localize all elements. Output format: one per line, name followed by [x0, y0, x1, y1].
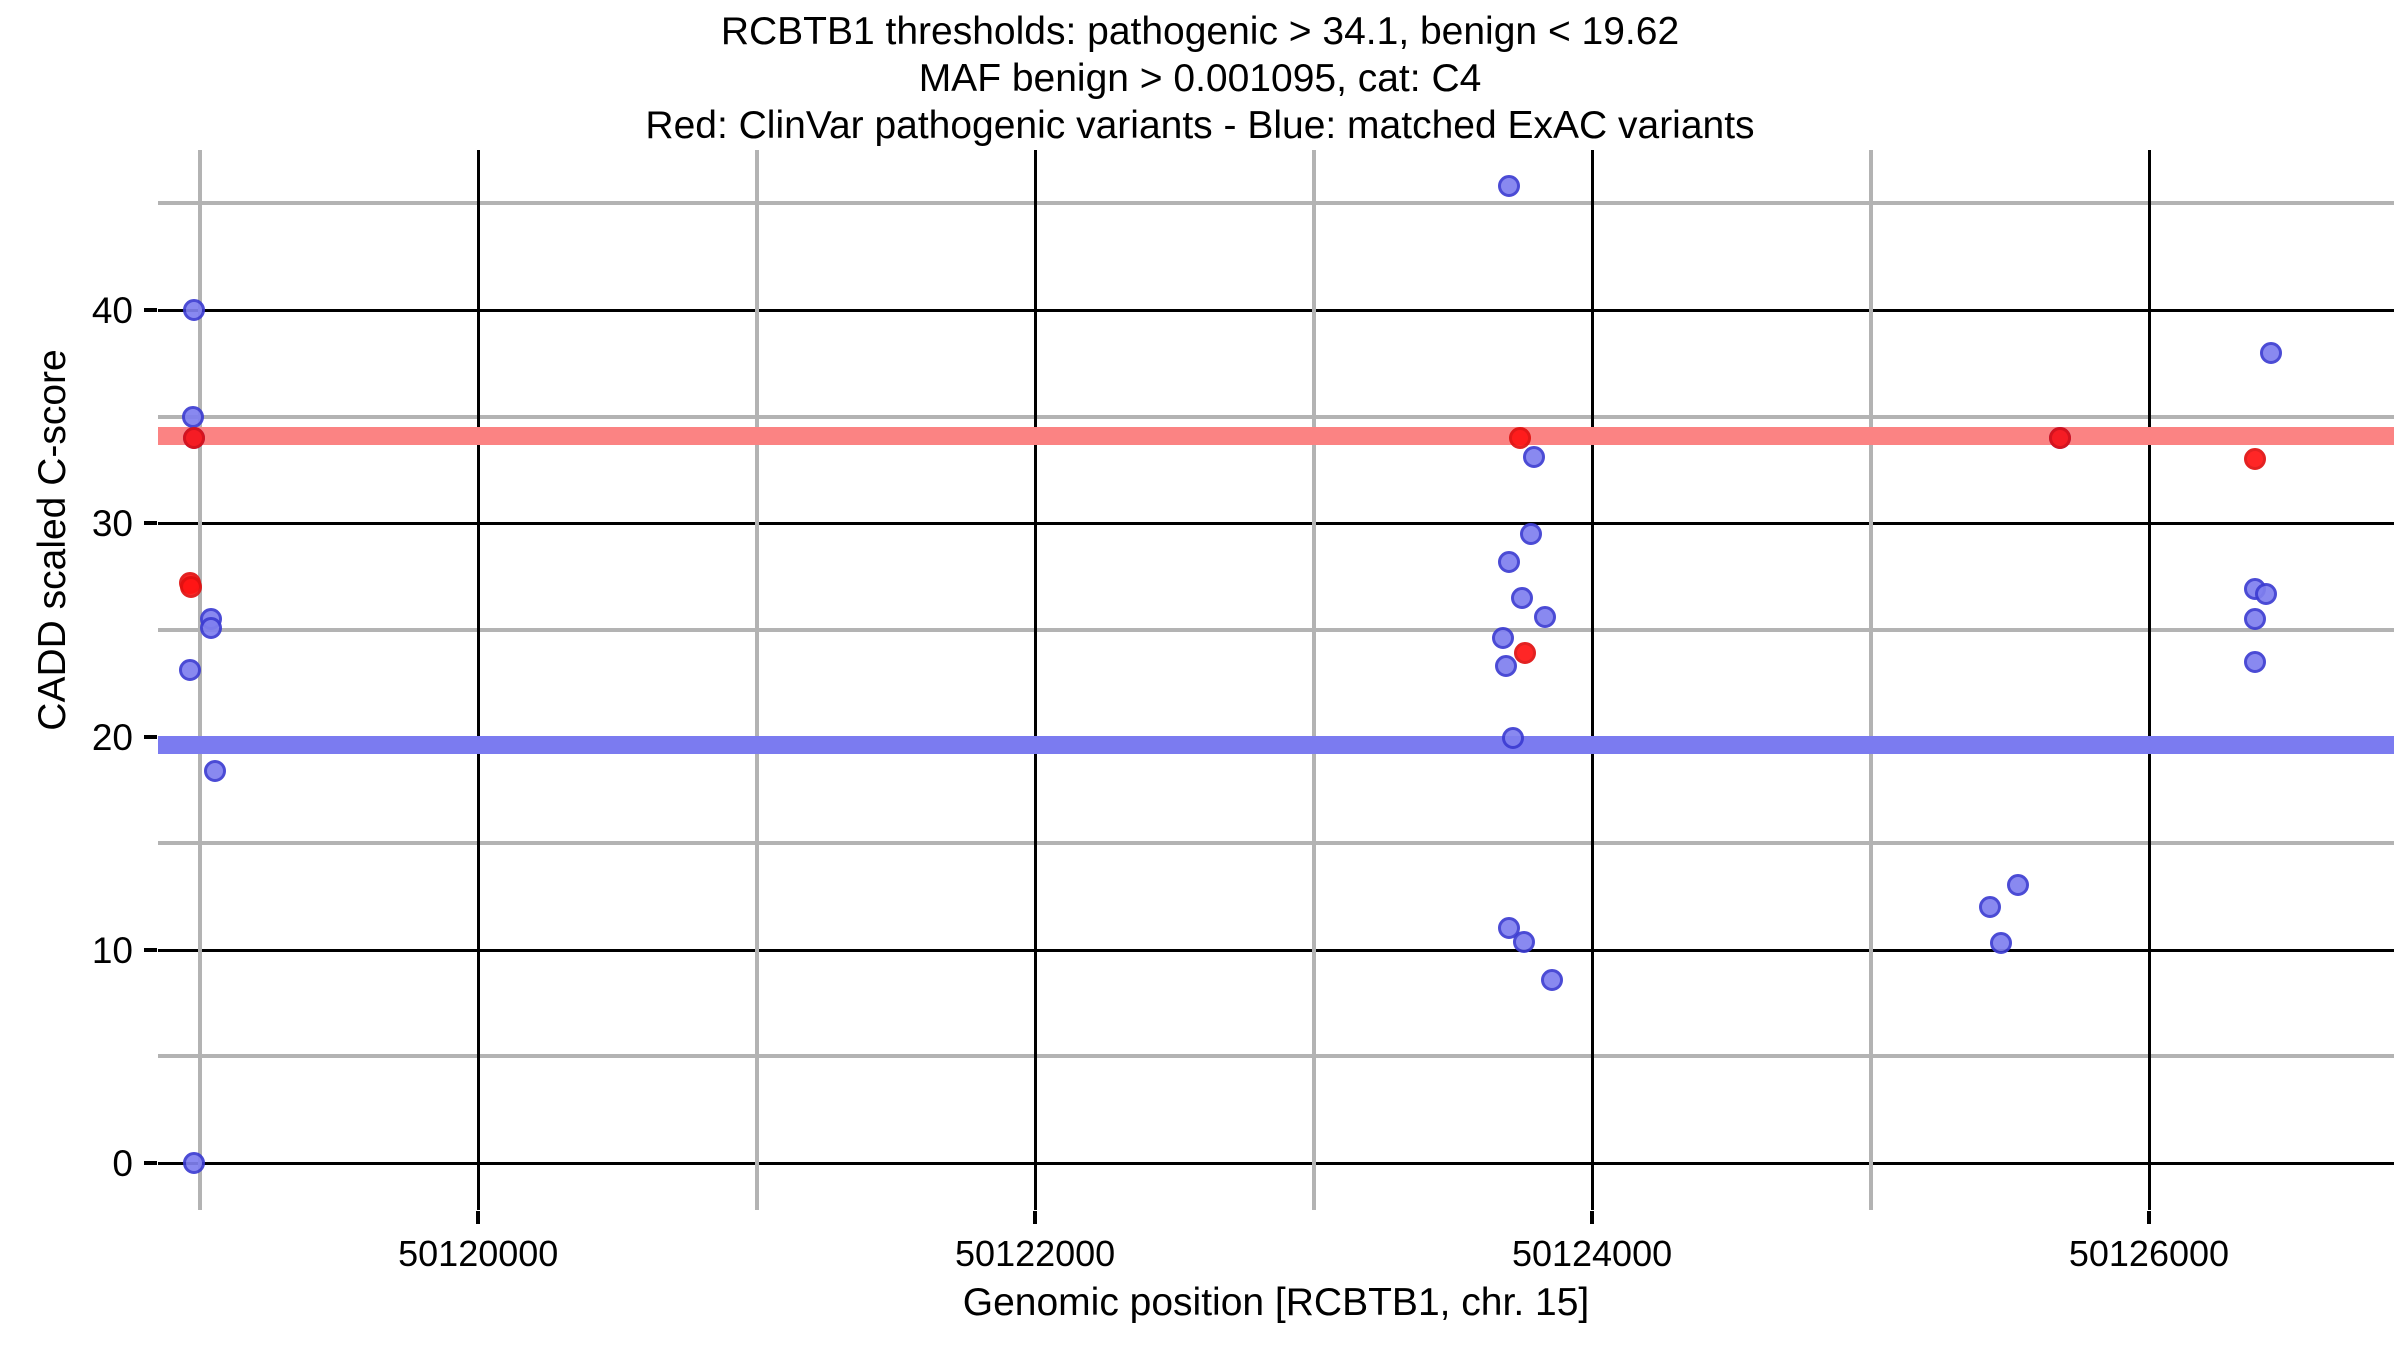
- gridline-vertical-major: [1591, 150, 1594, 1210]
- y-axis-tick-mark: [144, 1161, 157, 1165]
- x-axis-tick-label: 50124000: [1392, 1236, 1792, 1272]
- x-axis-title: Genomic position [RCBTB1, chr. 15]: [158, 1280, 2394, 1326]
- gridline-horizontal-major: [158, 1162, 2394, 1165]
- data-point-exac: [1492, 627, 1514, 649]
- plot-area: [158, 150, 2394, 1210]
- gridline-vertical-minor: [755, 150, 759, 1210]
- y-axis-tick-mark: [144, 948, 157, 952]
- data-point-pathogenic: [1514, 642, 1536, 664]
- data-point-exac: [183, 1152, 205, 1174]
- gridline-horizontal-minor: [158, 841, 2394, 845]
- x-axis-tick-label: 50126000: [1949, 1236, 2349, 1272]
- data-point-exac: [1495, 655, 1517, 677]
- data-point-exac: [2244, 651, 2266, 673]
- data-point-exac: [1513, 931, 1535, 953]
- chart-title-line-3: Red: ClinVar pathogenic variants - Blue:…: [0, 102, 2400, 149]
- data-point-exac: [182, 406, 204, 428]
- data-point-exac: [200, 617, 222, 639]
- y-axis-tick-label: 30: [0, 505, 133, 542]
- chart-title-line-2: MAF benign > 0.001095, cat: C4: [0, 55, 2400, 102]
- x-axis-tick-mark: [476, 1211, 480, 1224]
- y-axis-tick-mark: [144, 308, 157, 312]
- gridline-vertical-major: [2148, 150, 2151, 1210]
- x-axis-tick-mark: [2147, 1211, 2151, 1224]
- x-axis-tick-label: 50122000: [835, 1236, 1235, 1272]
- data-point-exac: [1534, 606, 1556, 628]
- data-point-exac: [1502, 727, 1524, 749]
- data-point-exac: [183, 299, 205, 321]
- data-point-exac: [2255, 583, 2277, 605]
- figure-canvas: RCBTB1 thresholds: pathogenic > 34.1, be…: [0, 0, 2400, 1350]
- gridline-vertical-major: [477, 150, 480, 1210]
- y-axis-tick-label: 0: [0, 1145, 133, 1182]
- x-axis-tick-mark: [1033, 1211, 1037, 1224]
- gridline-horizontal-major: [158, 949, 2394, 952]
- data-point-pathogenic: [2049, 427, 2071, 449]
- benign-threshold-band: [158, 736, 2394, 754]
- y-axis-tick-mark: [144, 735, 157, 739]
- data-point-exac: [1511, 587, 1533, 609]
- gridline-vertical-minor: [1869, 150, 1873, 1210]
- gridline-horizontal-minor: [158, 201, 2394, 205]
- chart-title: RCBTB1 thresholds: pathogenic > 34.1, be…: [0, 8, 2400, 149]
- chart-title-line-1: RCBTB1 thresholds: pathogenic > 34.1, be…: [0, 8, 2400, 55]
- data-point-pathogenic: [1509, 427, 1531, 449]
- y-axis-tick-label: 10: [0, 932, 133, 969]
- data-point-exac: [1498, 551, 1520, 573]
- x-axis-tick-label: 50120000: [278, 1236, 678, 1272]
- gridline-horizontal-major: [158, 309, 2394, 312]
- data-point-exac: [1979, 896, 2001, 918]
- gridline-horizontal-minor: [158, 628, 2394, 632]
- data-point-pathogenic: [183, 427, 205, 449]
- gridline-horizontal-minor: [158, 415, 2394, 419]
- data-point-exac: [204, 760, 226, 782]
- gridline-vertical-major: [1034, 150, 1037, 1210]
- data-point-exac: [1523, 446, 1545, 468]
- y-axis-tick-label: 40: [0, 292, 133, 329]
- data-point-exac: [1541, 969, 1563, 991]
- x-axis-tick-mark: [1590, 1211, 1594, 1224]
- y-axis-tick-mark: [144, 521, 157, 525]
- data-point-exac: [1520, 523, 1542, 545]
- data-point-exac: [1498, 175, 1520, 197]
- gridline-horizontal-minor: [158, 1054, 2394, 1058]
- data-point-pathogenic: [2244, 448, 2266, 470]
- y-axis-tick-label: 20: [0, 719, 133, 756]
- gridline-horizontal-major: [158, 522, 2394, 525]
- data-point-exac: [2007, 874, 2029, 896]
- gridline-vertical-minor: [1312, 150, 1316, 1210]
- data-point-exac: [2244, 608, 2266, 630]
- data-point-exac: [2260, 342, 2282, 364]
